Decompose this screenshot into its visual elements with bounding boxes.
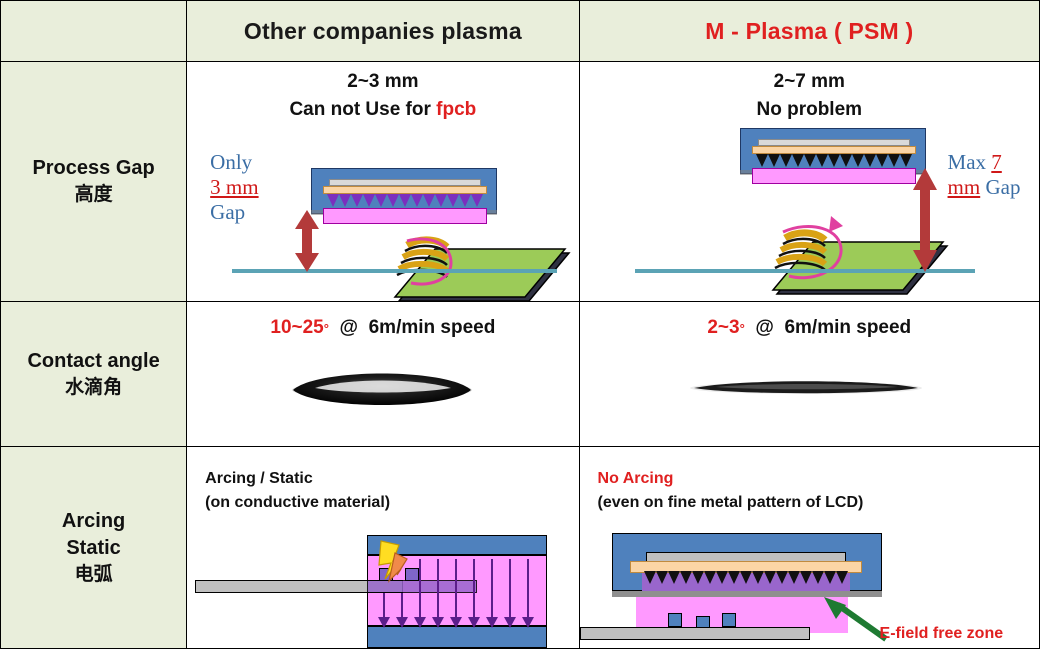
plasma-pink-zone	[752, 168, 916, 184]
table-row: Contact angle 水滴角 10~25° @ 6m/min speed	[1, 302, 1040, 447]
arcing-other-note: Arcing / Static (on conductive material)	[205, 467, 390, 515]
contact-angle-other-caption: 10~25° @ 6m/min speed	[187, 314, 578, 342]
lightning-bolt-icon	[373, 539, 419, 591]
note-line-2: (on conductive material)	[205, 491, 390, 515]
row-label-en: Contact angle	[1, 348, 186, 375]
comparison-sheet: Other companies plasma M - Plasma ( PSM …	[0, 0, 1040, 648]
gap-arrow-7mm	[910, 168, 940, 272]
annotation-only-3mm-gap: Only 3 mm Gap	[210, 150, 300, 224]
droplet-wide	[287, 364, 477, 414]
cell-contact-angle-other: 10~25° @ 6m/min speed	[187, 302, 579, 447]
table-header-row: Other companies plasma M - Plasma ( PSM …	[1, 1, 1040, 62]
comparison-table: Other companies plasma M - Plasma ( PSM …	[0, 0, 1040, 649]
caption-no-problem: No problem	[580, 96, 1039, 124]
row-label-en-static: Static	[1, 535, 186, 562]
droplet-flat	[686, 370, 926, 406]
efield-free-zone-label: E-field free zone	[880, 625, 1004, 643]
note-line-1: Arcing / Static	[205, 467, 390, 491]
cell-process-gap-mplasma: 2~7 mm No problem	[579, 62, 1039, 302]
contact-angle-mplasma-content: 2~3° @ 6m/min speed	[580, 302, 1039, 446]
gap-arrow-3mm	[292, 210, 322, 272]
metal-pad-1	[668, 613, 682, 627]
contact-angle-mplasma-caption: 2~3° @ 6m/min speed	[580, 314, 1039, 342]
at-symbol: @	[755, 317, 774, 338]
contact-angle-line: 2~3° @ 6m/min speed	[580, 314, 1039, 342]
arc-lightning-bolt	[373, 539, 419, 591]
cell-arcing-mplasma: No Arcing (even on fine metal pattern of…	[579, 447, 1039, 649]
table-row: Arcing Static 电弧 Arcing / Static (on con…	[1, 447, 1040, 649]
plasma-teeth-row	[756, 154, 912, 168]
contact-angle-value: 10~25	[270, 317, 323, 338]
plasma-head-grey-plate	[329, 179, 481, 186]
table-row: Process Gap 高度 2~3 mm Can not Use for fp…	[1, 62, 1040, 302]
row-label-arcing-static: Arcing Static 电弧	[1, 447, 187, 649]
substrate-panel-svg	[347, 217, 577, 307]
annotation-word-only: Only	[210, 150, 252, 174]
row-label-en-arcing: Arcing	[1, 508, 186, 535]
caption-usage-highlight: fpcb	[436, 99, 476, 120]
annotation-max-7mm-gap: Max 7 mm Gap	[948, 150, 1032, 200]
caption-gap-range: 2~7 mm	[580, 68, 1039, 96]
plasma-teeth-row	[327, 194, 483, 208]
contact-angle-other-content: 10~25° @ 6m/min speed	[187, 302, 578, 446]
row-label-contact-angle: Contact angle 水滴角	[1, 302, 187, 447]
header-label-other-companies: Other companies plasma	[244, 18, 522, 44]
caption-gap-range: 2~3 mm	[187, 68, 578, 96]
degree-symbol: °	[324, 321, 329, 336]
annotation-word-3mm: 3 mm	[210, 175, 258, 199]
row-label-cn: 高度	[1, 182, 186, 208]
plasma-head-tan-plate	[323, 186, 487, 194]
process-gap-other-content: 2~3 mm Can not Use for fpcb Only 3 mm Ga…	[187, 62, 578, 301]
header-cell-m-plasma: M - Plasma ( PSM )	[579, 1, 1039, 62]
row-label-cn: 电弧	[1, 562, 186, 588]
arc-bottom-electrode	[367, 626, 547, 648]
caption-usage-prefix: Can not Use for	[289, 99, 436, 120]
header-cell-blank	[1, 1, 187, 62]
degree-symbol: °	[740, 321, 745, 336]
reference-baseline	[232, 269, 557, 273]
plasma-head-grey-plate	[758, 139, 910, 146]
row-label-cn: 水滴角	[1, 375, 186, 401]
cell-contact-angle-mplasma: 2~3° @ 6m/min speed	[579, 302, 1039, 447]
psm-conveyor-bar	[580, 627, 810, 640]
row-label-process-gap: Process Gap 高度	[1, 62, 187, 302]
process-gap-mplasma-caption: 2~7 mm No problem	[580, 68, 1039, 123]
contact-angle-droplet-icon	[686, 370, 926, 406]
plasma-head-tan-plate	[752, 146, 916, 154]
header-label-m-plasma: M - Plasma ( PSM )	[705, 18, 913, 44]
annotation-word-max: Max	[948, 150, 992, 174]
double-arrow-icon	[292, 210, 322, 272]
arcing-mplasma-note: No Arcing (even on fine metal pattern of…	[598, 467, 864, 515]
row-label-en: Process Gap	[1, 155, 186, 182]
metal-pad-3	[722, 613, 736, 627]
note-line-1: No Arcing	[598, 467, 864, 491]
speed-condition: 6m/min speed	[369, 317, 496, 338]
arcing-mplasma-content: No Arcing (even on fine metal pattern of…	[580, 447, 1039, 648]
substrate-panel-group	[347, 217, 577, 307]
arcing-other-content: Arcing / Static (on conductive material)	[187, 447, 578, 648]
process-gap-other-caption: 2~3 mm Can not Use for fpcb	[187, 68, 578, 123]
cell-arcing-other: Arcing / Static (on conductive material)	[187, 447, 579, 649]
annotation-word-gap: Gap	[210, 200, 245, 224]
speed-condition: 6m/min speed	[784, 317, 911, 338]
caption-usage: Can not Use for fpcb	[187, 96, 578, 124]
at-symbol: @	[340, 317, 359, 338]
contact-angle-droplet-icon	[287, 364, 477, 414]
annotation-word-gap: Gap	[980, 175, 1020, 199]
contact-angle-line: 10~25° @ 6m/min speed	[187, 314, 578, 342]
contact-angle-value: 2~3	[707, 317, 739, 338]
header-cell-other-companies: Other companies plasma	[187, 1, 579, 62]
psm-teeth-row	[644, 571, 848, 587]
process-gap-mplasma-content: 2~7 mm No problem	[580, 62, 1039, 301]
double-arrow-icon	[910, 168, 940, 272]
note-line-2: (even on fine metal pattern of LCD)	[598, 491, 864, 515]
cell-process-gap-other: 2~3 mm Can not Use for fpcb Only 3 mm Ga…	[187, 62, 579, 302]
